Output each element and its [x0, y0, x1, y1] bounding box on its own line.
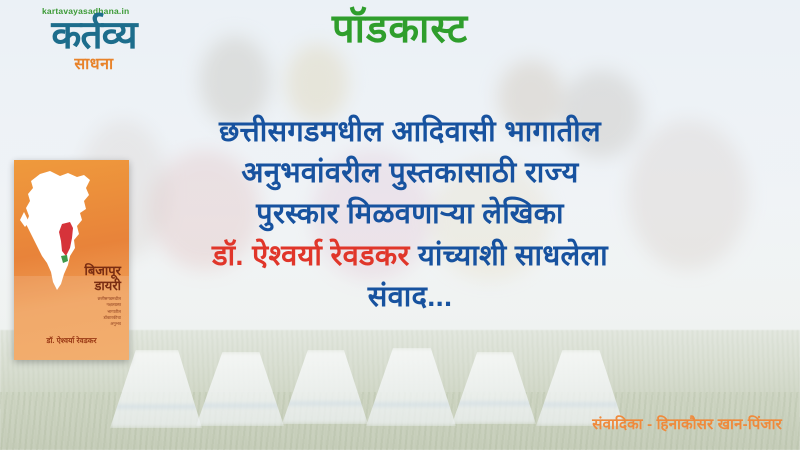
- description-text: छत्तीसगडमधील आदिवासी भागातील अनुभवांवरील…: [130, 112, 690, 318]
- description-line-4: डॉ. ऐश्वर्या रेवडकर यांच्याशी साधलेला: [130, 236, 690, 277]
- podcast-promo-poster: kartavayasadhana.in कर्तव्य साधना पॉडकास…: [0, 0, 800, 450]
- description-line-3: पुरस्कार मिळवणाऱ्या लेखिका: [130, 194, 690, 235]
- guest-name: डॉ. ऐश्वर्या रेवडकर: [212, 240, 410, 272]
- book-subtitle: छत्तीसगडमधील नक्षलग्रस्त भागातील डॉक्टरक…: [98, 296, 121, 327]
- description-line-4-suffix: यांच्याशी साधलेला: [410, 240, 608, 272]
- logo-sub-wordmark: साधना: [14, 52, 174, 74]
- description-line-1: छत्तीसगडमधील आदिवासी भागातील: [130, 112, 690, 153]
- description-line-2: अनुभवांवरील पुस्तकासाठी राज्य: [130, 153, 690, 194]
- description-line-5: संवाद...: [130, 277, 690, 318]
- page-title: पॉडकास्ट: [0, 8, 800, 50]
- interviewer-credit: संवादिका - हिनाकौसर खान-पिंजार: [592, 414, 782, 434]
- book-title-line-1: बिजापूर: [84, 264, 121, 279]
- book-cover[interactable]: बिजापूर डायरी छत्तीसगडमधील नक्षलग्रस्त भ…: [14, 160, 129, 360]
- book-title-line-2: डायरी: [84, 279, 121, 294]
- book-title: बिजापूर डायरी: [84, 264, 121, 293]
- book-author: डॉ. ऐश्वर्या रेवडकर: [14, 336, 129, 346]
